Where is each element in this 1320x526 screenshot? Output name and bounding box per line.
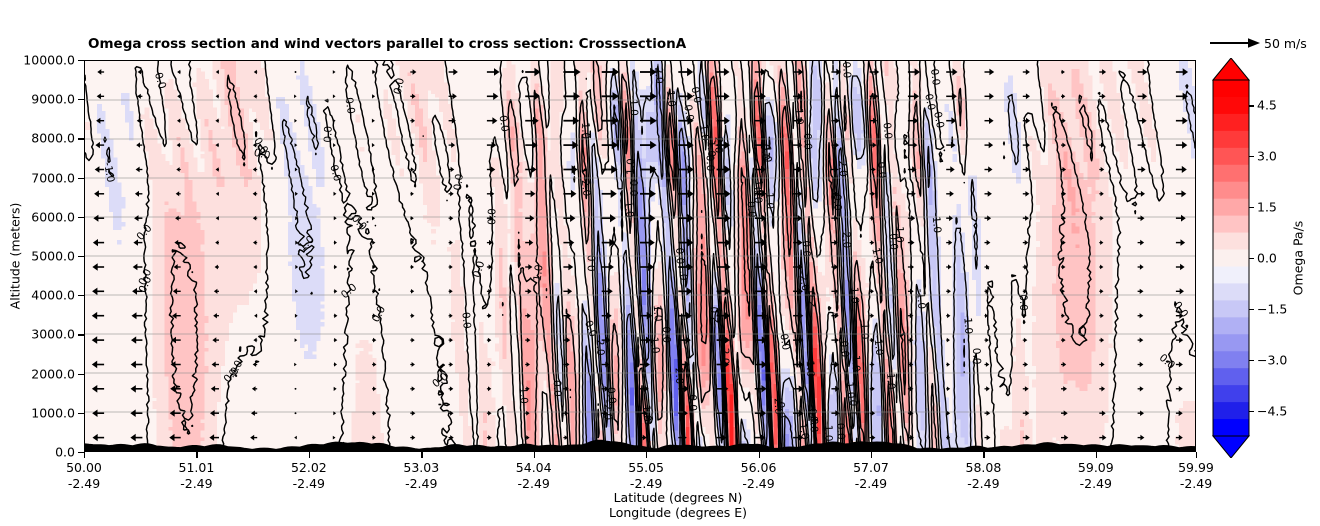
wind-vector xyxy=(410,289,414,294)
contour-label: -1.0 xyxy=(914,288,927,309)
colorbar-tick-mark xyxy=(1249,411,1254,412)
y-tick-label: 2000.0 xyxy=(31,366,75,381)
wind-vector xyxy=(946,289,951,294)
wind-vector xyxy=(1023,216,1029,221)
wind-vector xyxy=(93,215,104,222)
colorbar-tick-mark xyxy=(1249,360,1254,361)
wind-vector xyxy=(410,265,414,270)
contour-label: 1.0 xyxy=(849,355,861,372)
wind-vector xyxy=(1176,215,1186,222)
wind-vector xyxy=(946,166,955,172)
plot-clip: 0.00.00.00.00.00.00.00.00.00.00.00.00.00… xyxy=(85,61,1195,451)
x-axis-label-latitude: Latitude (degrees N) xyxy=(0,490,1320,505)
wind-vector xyxy=(131,336,142,343)
wind-vector xyxy=(717,68,730,76)
contour-label: -1.0 xyxy=(101,161,116,183)
wind-vector xyxy=(410,313,414,318)
wind-vector xyxy=(946,387,950,392)
y-tick-mark xyxy=(78,178,84,179)
contour-label: -2.0 xyxy=(593,335,606,356)
y-tick-label: 3000.0 xyxy=(31,327,75,342)
wind-vector xyxy=(946,264,951,269)
wind-vector xyxy=(602,190,617,198)
wind-vector xyxy=(410,411,415,416)
colorbar-tick-mark xyxy=(1249,309,1254,310)
wind-vector xyxy=(1023,191,1030,197)
y-tick-mark xyxy=(78,295,84,296)
x-tick-label: 52.02 -2.49 xyxy=(291,460,327,492)
figure-root: Omega cross section and wind vectors par… xyxy=(0,0,1320,526)
wind-vector xyxy=(563,215,575,223)
wind-vector xyxy=(1176,190,1186,197)
wind-vector xyxy=(487,191,494,197)
wind-vector xyxy=(449,386,454,391)
wind-vector xyxy=(985,215,992,221)
wind-vector xyxy=(1176,239,1185,246)
contour-label: -2.0 xyxy=(672,364,685,385)
contour-label: 0.0 xyxy=(134,222,154,242)
contour-label: 1.0 xyxy=(848,287,861,304)
y-tick-label: 4000.0 xyxy=(31,288,75,303)
colorbar-tick-label: −4.5 xyxy=(1257,403,1287,418)
contour-label: 1.0 xyxy=(651,304,664,322)
wind-vector xyxy=(372,119,375,123)
wind-vector xyxy=(253,338,257,343)
wind-vector xyxy=(1138,362,1144,367)
wind-vector xyxy=(946,240,952,245)
wind-vector xyxy=(985,411,991,416)
wind-vector xyxy=(985,191,992,197)
contour-label: -1.0 xyxy=(871,335,885,357)
wind-vector xyxy=(254,289,257,294)
colorbar xyxy=(1211,58,1253,458)
wind-vector xyxy=(1023,240,1029,245)
contour-label: 0.0 xyxy=(881,122,894,140)
x-tick-mark xyxy=(421,452,422,458)
colorbar-tick-mark xyxy=(1249,156,1254,157)
wind-vector xyxy=(985,435,991,440)
wind-vector xyxy=(177,94,181,99)
wind-vector xyxy=(92,312,104,320)
wind-vector xyxy=(372,192,375,196)
wind-vector xyxy=(372,94,375,98)
wind-vector xyxy=(449,69,458,76)
wind-vector xyxy=(333,436,336,440)
wind-vector xyxy=(870,313,874,318)
wind-vector xyxy=(334,192,337,196)
wind-vector xyxy=(130,409,142,417)
wind-vector xyxy=(1138,289,1144,294)
contour-label: 1.0 xyxy=(664,90,677,108)
contour-label: 0.0 xyxy=(586,255,598,272)
wind-vector xyxy=(1176,337,1183,343)
x-tick-label: 58.08 -2.49 xyxy=(965,460,1001,492)
contour-label: -1.0 xyxy=(848,400,860,421)
wind-vector xyxy=(134,215,142,221)
wind-vector xyxy=(1138,191,1145,197)
wind-vector xyxy=(334,387,337,391)
x-tick-mark xyxy=(84,452,85,458)
x-tick-label: 53.03 -2.49 xyxy=(403,460,439,492)
wind-vector xyxy=(92,263,104,270)
y-tick-mark xyxy=(78,138,84,139)
wind-vector xyxy=(295,338,298,342)
contour-label: 1.0 xyxy=(622,200,636,218)
contour-label: -1.0 xyxy=(804,356,817,377)
wind-vector xyxy=(334,265,337,269)
y-tick-label: 1000.0 xyxy=(31,405,75,420)
x-tick-label: 50.00 -2.49 xyxy=(66,460,102,492)
x-tick-label: 56.06 -2.49 xyxy=(741,460,777,492)
contour-label: 1.0 xyxy=(893,226,905,243)
x-tick-mark xyxy=(534,452,535,458)
wind-vector xyxy=(1138,264,1144,269)
contour-label: 0.0 xyxy=(777,333,791,351)
wind-vector xyxy=(985,240,991,245)
contour-label: 1.0 xyxy=(858,323,870,340)
x-tick-mark xyxy=(1196,452,1197,458)
contour-label: -1.0 xyxy=(929,212,943,233)
wind-vector-dot xyxy=(295,388,297,390)
y-axis-label: Altitude (meters) xyxy=(8,203,23,310)
x-tick-label: 54.04 -2.49 xyxy=(516,460,552,492)
wind-vector xyxy=(1138,386,1144,391)
wind-vector xyxy=(177,70,181,75)
wind-vector xyxy=(334,362,337,366)
x-tick-mark xyxy=(646,452,647,458)
wind-vector xyxy=(410,386,415,391)
x-tick-label: 59.09 -2.49 xyxy=(1078,460,1114,492)
y-tick-mark xyxy=(78,413,84,414)
wind-vector xyxy=(410,362,415,367)
wind-key-label: 50 m/s xyxy=(1264,36,1307,51)
wind-vector xyxy=(678,68,693,76)
wind-vector xyxy=(372,143,375,147)
wind-vector xyxy=(831,93,840,99)
y-tick-mark xyxy=(78,256,84,257)
wind-vector xyxy=(985,386,990,391)
wind-vector-key: 50 m/s xyxy=(1208,34,1320,58)
contour-label: 2.0 xyxy=(771,398,784,415)
x-tick-mark xyxy=(759,452,760,458)
wind-vector xyxy=(92,288,104,296)
contour-label: 0.0 xyxy=(1017,294,1029,311)
contour-label: -1.0 xyxy=(627,95,640,116)
contour-label: 0.0 xyxy=(497,114,511,132)
wind-vector xyxy=(1176,141,1187,148)
x-axis-label-longitude: Longitude (degrees E) xyxy=(0,505,1320,520)
wind-vector xyxy=(1176,264,1185,270)
wind-vector xyxy=(93,434,105,441)
contour-label: 0.0 xyxy=(339,281,359,301)
wind-vector xyxy=(1099,118,1105,123)
wind-vector xyxy=(946,215,953,221)
contour-label: 1.0 xyxy=(532,264,546,282)
wind-vector xyxy=(602,214,616,222)
contour-label: 0.0 xyxy=(660,326,673,343)
wind-vector xyxy=(1138,411,1144,417)
wind-vector xyxy=(250,435,257,441)
colorbar-tick-mark xyxy=(1249,207,1254,208)
wind-vector xyxy=(131,361,143,368)
x-axis-label-latitude-text: Latitude (degrees N) xyxy=(614,490,743,505)
wind-vector xyxy=(254,314,257,318)
wind-vector xyxy=(372,240,375,244)
contour-label: 0.0 xyxy=(343,97,357,115)
x-tick-label: 57.07 -2.49 xyxy=(853,460,889,492)
contour-label: 0.0 xyxy=(152,71,168,90)
wind-vector xyxy=(1138,338,1144,343)
cross-section-contour-plot: 0.00.00.00.00.00.00.00.00.00.00.00.00.00… xyxy=(85,61,1195,451)
contour-label: 0.0 xyxy=(834,423,847,440)
wind-vector xyxy=(372,338,376,343)
contour-label: 0.0 xyxy=(322,126,335,143)
colorbar-tick-label: −1.5 xyxy=(1257,301,1287,316)
contour-label: -2.0 xyxy=(835,156,848,177)
contour-label: 0.0 xyxy=(551,380,564,397)
x-tick-mark xyxy=(983,452,984,458)
contour-label: 0.0 xyxy=(627,180,639,197)
contour-label: 0.0 xyxy=(831,194,844,211)
x-axis-label-longitude-text: Longitude (degrees E) xyxy=(609,505,747,520)
wind-vector xyxy=(92,361,104,369)
wind-vector xyxy=(294,119,297,123)
wind-vector xyxy=(136,142,142,147)
x-tick-label: 59.99 -2.49 xyxy=(1178,460,1214,492)
wind-vector-dot xyxy=(295,71,297,73)
wind-vector xyxy=(333,143,336,147)
x-tick-label: 55.05 -2.49 xyxy=(628,460,664,492)
colorbar-tick-label: 4.5 xyxy=(1257,98,1277,113)
y-tick-label: 9000.0 xyxy=(31,92,75,107)
wind-vector xyxy=(410,192,414,197)
wind-vector xyxy=(136,167,143,173)
wind-vector xyxy=(133,264,143,271)
wind-vector xyxy=(1176,117,1188,124)
y-tick-mark xyxy=(78,60,84,61)
wind-vector xyxy=(1176,288,1184,294)
colorbar-gradient xyxy=(1211,58,1253,458)
y-tick-label: 5000.0 xyxy=(31,249,75,264)
wind-vector xyxy=(985,142,994,148)
wind-vector xyxy=(1138,313,1144,318)
wind-vector xyxy=(333,94,336,98)
wind-vector xyxy=(131,385,143,393)
wind-vector xyxy=(410,435,415,440)
wind-vector xyxy=(985,69,995,76)
wind-vector xyxy=(97,93,104,99)
x-tick-label: 51.01 -2.49 xyxy=(179,460,215,492)
contour-label: 0.0 xyxy=(327,163,343,182)
wind-vector xyxy=(252,386,257,391)
y-tick-mark xyxy=(78,99,84,100)
wind-vector xyxy=(334,289,338,294)
contour-label: 0.0 xyxy=(486,208,498,225)
contour-label: 0.0 xyxy=(838,340,851,358)
wind-vector xyxy=(946,362,950,367)
wind-vector xyxy=(334,314,338,319)
contour-label: 1.0 xyxy=(579,122,592,139)
y-tick-mark xyxy=(78,334,84,335)
colorbar-tick-label: 0.0 xyxy=(1257,251,1277,266)
contour-label: -2.0 xyxy=(601,399,614,420)
y-tick-label: 0.0 xyxy=(55,445,75,460)
wind-vector xyxy=(251,411,257,416)
wind-vector xyxy=(449,216,454,221)
colorbar-tick-label: 1.5 xyxy=(1257,200,1277,215)
title-line-1: Omega cross section and wind vectors par… xyxy=(88,37,689,53)
wind-vector xyxy=(985,93,994,100)
y-tick-mark xyxy=(78,217,84,218)
wind-vector xyxy=(92,385,104,393)
wind-vector xyxy=(130,434,142,442)
wind-vector xyxy=(985,166,993,172)
y-tick-label: 8000.0 xyxy=(31,131,75,146)
wind-vector xyxy=(487,93,499,100)
contour-label: 1.0 xyxy=(625,158,637,175)
y-tick-label: 6000.0 xyxy=(31,209,75,224)
contour-label: -1.0 xyxy=(961,313,974,334)
wind-vector xyxy=(92,410,104,418)
contour-label: 0.0 xyxy=(874,161,887,179)
colorbar-title: Omega Pa/s xyxy=(1291,221,1306,296)
contour-label: 2.0 xyxy=(579,179,593,197)
wind-vector xyxy=(97,69,104,75)
x-tick-mark xyxy=(196,452,197,458)
wind-vector xyxy=(946,338,950,343)
wind-vector xyxy=(1138,240,1145,246)
contour-label: 2.0 xyxy=(806,290,819,307)
colorbar-tick-mark xyxy=(1249,258,1254,259)
x-tick-mark xyxy=(871,452,872,458)
wind-vector xyxy=(1176,166,1187,173)
wind-vector xyxy=(92,336,104,344)
contour-label: -2.0 xyxy=(709,306,721,327)
right-arrow-icon xyxy=(1208,34,1262,54)
wind-vector xyxy=(487,338,491,343)
colorbar-tick-mark xyxy=(1249,105,1254,106)
wind-vector xyxy=(487,68,500,76)
y-tick-label: 10000.0 xyxy=(23,53,75,68)
wind-vector xyxy=(294,436,297,440)
wind-vector-dot xyxy=(295,412,297,414)
wind-vector xyxy=(333,70,336,74)
colorbar-tick-label: 3.0 xyxy=(1257,149,1277,164)
wind-vector xyxy=(410,338,414,343)
wind-vector xyxy=(1023,93,1030,99)
contour-label: 0.0 xyxy=(459,312,473,330)
wind-vector xyxy=(946,313,950,318)
wind-vector xyxy=(449,191,454,196)
contour-label: 0.0 xyxy=(686,394,699,411)
contour-label: 0.0 xyxy=(452,173,466,191)
wind-vector xyxy=(294,95,297,99)
wind-vector xyxy=(449,362,454,367)
contour-label: 0.0 xyxy=(801,133,814,150)
contour-label: 1.0 xyxy=(648,336,662,354)
plot-area: 0.00.00.00.00.00.00.00.00.00.00.00.00.00… xyxy=(84,60,1196,452)
wind-vector xyxy=(985,118,994,125)
wind-vector xyxy=(334,240,337,244)
wind-vector xyxy=(132,312,143,319)
wind-vector xyxy=(135,191,143,197)
wind-vector xyxy=(1138,166,1146,172)
wind-vector xyxy=(94,190,104,197)
wind-vector xyxy=(985,362,990,367)
contour-label: -2.0 xyxy=(840,228,853,249)
contour-label: 0.0 xyxy=(370,304,388,324)
contour-label: 0.0 xyxy=(1157,352,1177,372)
wind-vector xyxy=(487,117,498,124)
colorbar-tick-label: −3.0 xyxy=(1257,352,1287,367)
wind-vector xyxy=(1138,435,1145,441)
y-axis-label-wrap: Altitude (meters) xyxy=(6,60,24,452)
y-tick-label: 7000.0 xyxy=(31,170,75,185)
wind-vector xyxy=(487,313,492,318)
wind-vector xyxy=(1023,69,1030,75)
x-tick-mark xyxy=(1096,452,1097,458)
wind-vector xyxy=(946,191,954,197)
colorbar-title-wrap: Omega Pa/s xyxy=(1288,58,1308,458)
wind-vector xyxy=(1138,215,1145,221)
wind-vector xyxy=(1176,386,1183,392)
wind-vector xyxy=(93,239,104,246)
contour-label: 0.0 xyxy=(430,371,451,391)
wind-vector xyxy=(985,338,989,343)
contour-label: 1.0 xyxy=(884,373,897,390)
wind-vector xyxy=(334,338,338,342)
contour-label: 0.0 xyxy=(840,61,853,78)
contour-label: -1.0 xyxy=(822,421,834,442)
contour-label: 0.0 xyxy=(928,68,942,86)
contour-label: -1.0 xyxy=(763,188,776,209)
y-tick-mark xyxy=(78,374,84,375)
wind-vector xyxy=(294,363,297,367)
contour-label: 0.0 xyxy=(970,348,983,365)
x-tick-mark xyxy=(309,452,310,458)
